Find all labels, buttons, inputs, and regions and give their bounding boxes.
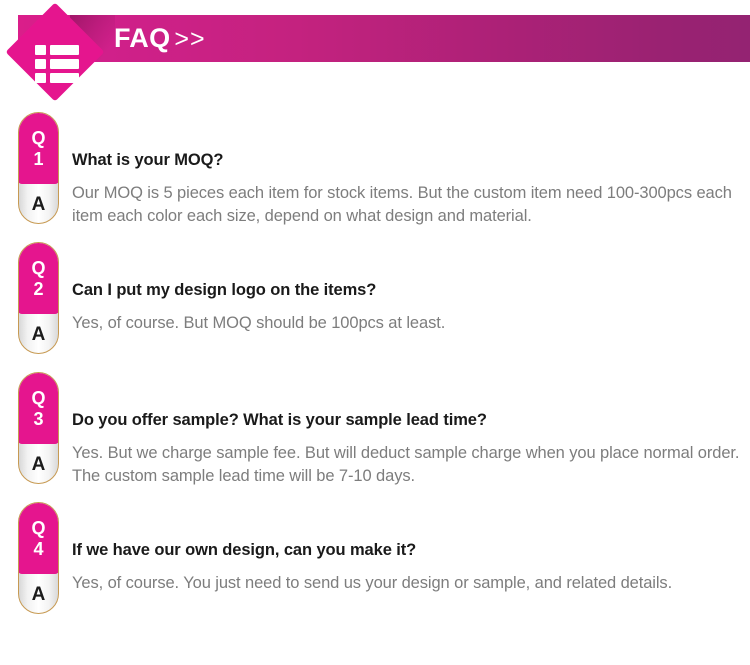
question-number: 1	[33, 149, 43, 169]
list-icon-line	[50, 45, 79, 55]
list-icon-row	[35, 45, 79, 55]
list-icon-line	[50, 73, 79, 83]
faq-list: Q 1 A What is your MOQ? Our MOQ is 5 pie…	[0, 112, 750, 632]
faq-answer: Our MOQ is 5 pieces each item for stock …	[72, 170, 748, 228]
faq-answer: Yes, of course. You just need to send us…	[72, 560, 748, 595]
question-letter: Q	[31, 258, 45, 278]
qa-badge: Q 4 A	[18, 502, 59, 614]
question-letter: Q	[31, 388, 45, 408]
faq-question: Can I put my design logo on the items?	[72, 242, 748, 300]
question-letter: Q	[31, 518, 45, 538]
faq-header: FAQ>>	[0, 0, 750, 120]
faq-text: If we have our own design, can you make …	[72, 502, 748, 595]
question-number: 4	[33, 539, 43, 559]
question-badge: Q 3	[18, 372, 59, 444]
qa-badge: Q 2 A	[18, 242, 59, 354]
faq-text: Do you offer sample? What is your sample…	[72, 372, 748, 488]
list-icon-line	[50, 59, 79, 69]
question-letter: Q	[31, 128, 45, 148]
question-number: 3	[33, 409, 43, 429]
answer-letter: A	[19, 185, 58, 224]
answer-letter: A	[19, 315, 58, 354]
answer-letter: A	[19, 445, 58, 484]
question-badge: Q 2	[18, 242, 59, 314]
question-badge: Q 4	[18, 502, 59, 574]
answer-letter: A	[19, 575, 58, 614]
faq-question: What is your MOQ?	[72, 112, 748, 170]
faq-question: If we have our own design, can you make …	[72, 502, 748, 560]
page-title-text: FAQ	[114, 23, 170, 53]
list-icon-bullet	[35, 73, 46, 83]
faq-item: Q 3 A Do you offer sample? What is your …	[0, 372, 750, 502]
qa-badge: Q 1 A	[18, 112, 59, 224]
list-icon	[35, 45, 79, 85]
question-number: 2	[33, 279, 43, 299]
question-badge: Q 1	[18, 112, 59, 184]
faq-item: Q 4 A If we have our own design, can you…	[0, 502, 750, 632]
page-title: FAQ>>	[114, 20, 206, 57]
list-icon-bullet	[35, 59, 46, 69]
faq-item: Q 1 A What is your MOQ? Our MOQ is 5 pie…	[0, 112, 750, 242]
faq-text: Can I put my design logo on the items? Y…	[72, 242, 748, 335]
faq-question: Do you offer sample? What is your sample…	[72, 372, 748, 430]
faq-answer: Yes. But we charge sample fee. But will …	[72, 430, 748, 488]
chevron-double-right-icon: >>	[170, 25, 205, 53]
list-icon-row	[35, 59, 79, 69]
list-icon-bullet	[35, 45, 46, 55]
faq-text: What is your MOQ? Our MOQ is 5 pieces ea…	[72, 112, 748, 228]
faq-answer: Yes, of course. But MOQ should be 100pcs…	[72, 300, 748, 335]
list-icon-row	[35, 73, 79, 83]
qa-badge: Q 3 A	[18, 372, 59, 484]
faq-item: Q 2 A Can I put my design logo on the it…	[0, 242, 750, 372]
